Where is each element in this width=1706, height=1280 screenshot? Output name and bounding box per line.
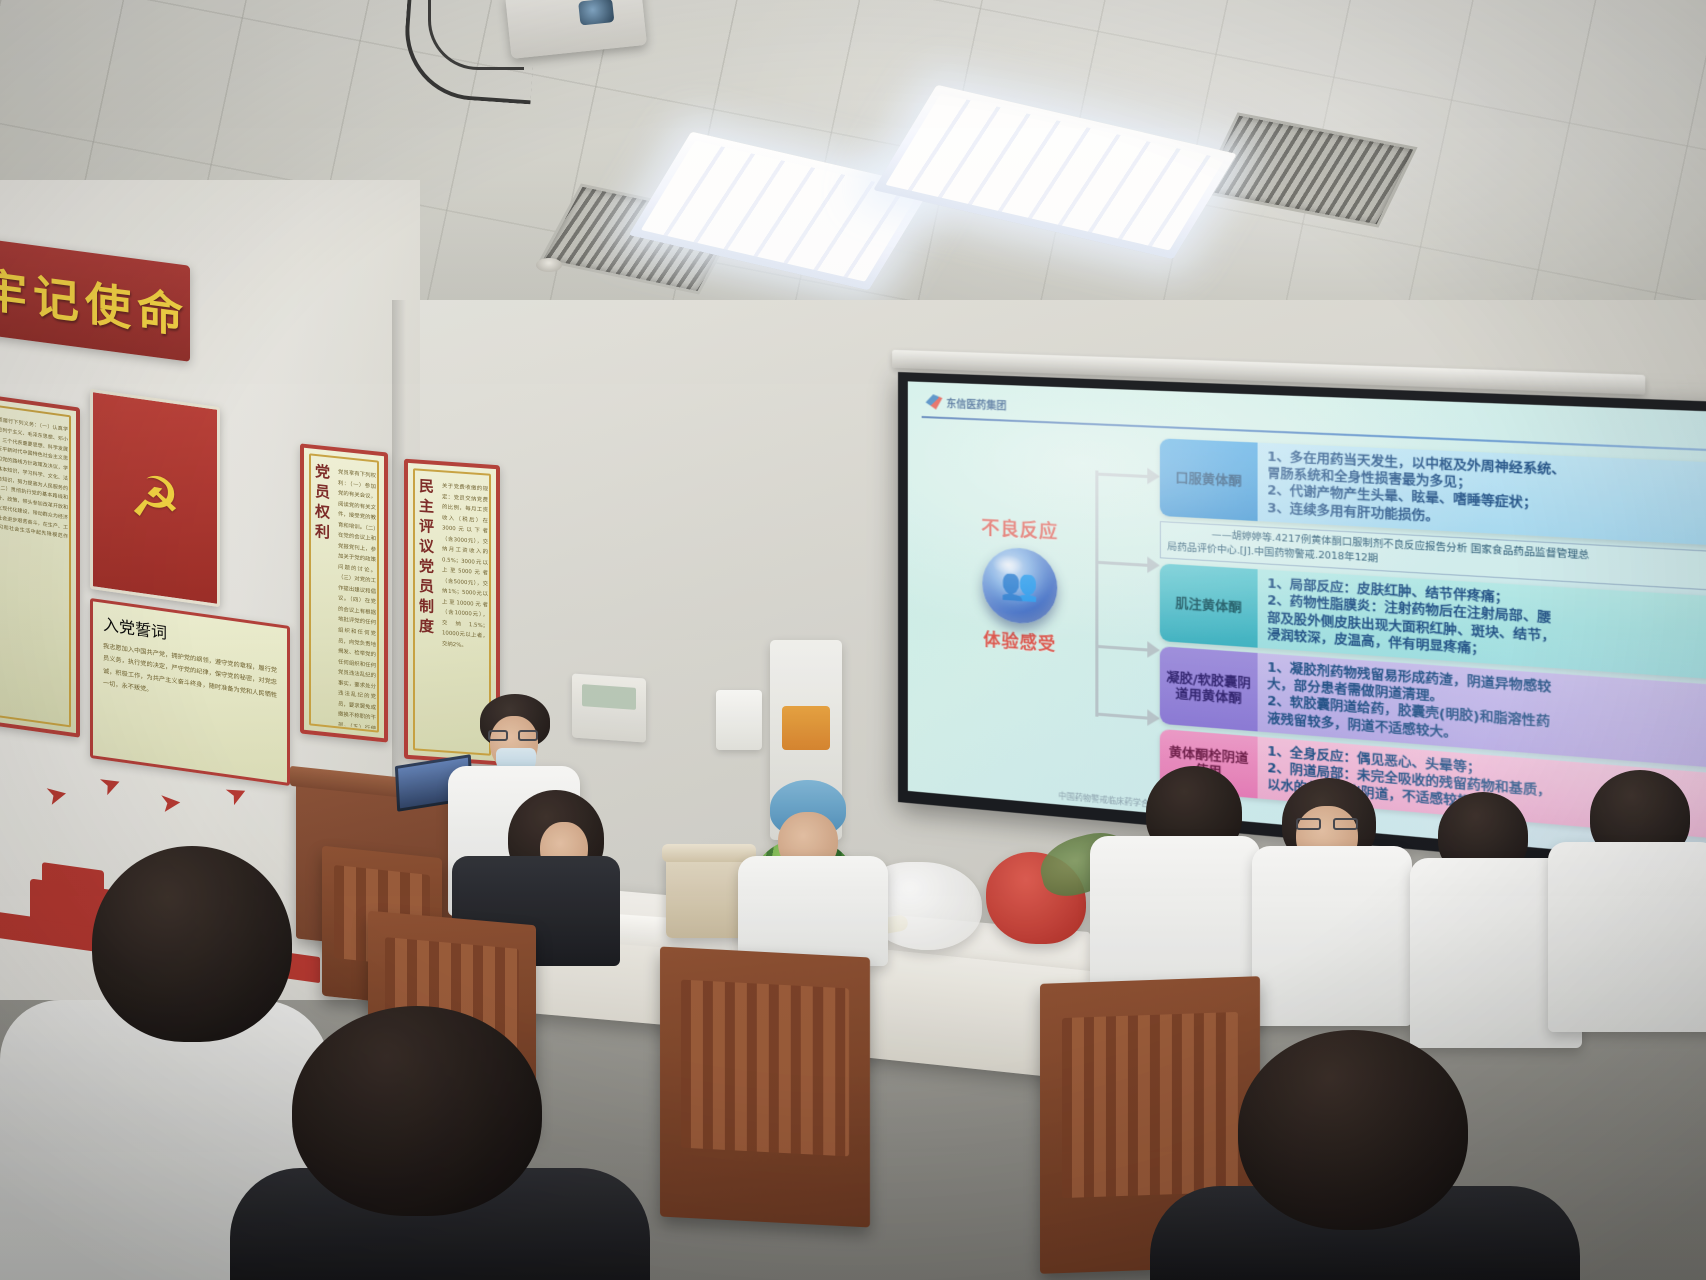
foreground-attendee-head [1238,1030,1468,1230]
wall-banner-text: 牢记使命 [0,253,189,346]
foreground-attendee-head [292,1006,542,1216]
slide-row-label: 肌注黄体酮 [1160,564,1258,648]
party-emblem-poster: ☭ [90,389,220,607]
slide-row-label: 凝胶/软胶囊阴道用黄体酮 [1160,646,1258,731]
slide-hub: 不良反应 👥 体验感受 [959,512,1081,657]
company-logo-icon [926,394,943,410]
photo-scene: 牢记使命 党员必须履行下列义务：（一）认真学习马克思列宁主义、毛泽东思想、邓小平… [0,0,1706,1280]
attendee-white-coat [738,856,888,966]
attendee-white-coat [1548,842,1706,1032]
wall-board-party-oath: 入党誓词 我志愿加入中国共产党，拥护党的纲领，遵守党的章程，履行党员义务，执行党… [90,598,290,786]
people-globe-icon: 👥 [982,546,1057,626]
projector-lens-icon [578,0,614,26]
foreground-attendee-head [92,846,292,1042]
slide-logo: 东信医药集团 [926,394,1007,412]
hammer-and-sickle-icon: ☭ [122,460,188,535]
wall-board-title: 民主评议党员制度 [416,477,437,638]
slide-row-label: 口服黄体酮 [1160,438,1258,521]
glasses-icon [488,730,540,741]
glasses-icon [1296,818,1360,830]
wall-board-body: 党员必须履行下列义务：（一）认真学习马克思列宁主义、毛泽东思想、邓小平理论、三个… [0,414,68,724]
slide-hub-subtitle: 体验感受 [959,623,1081,657]
slide-hub-title: 不良反应 [959,512,1081,545]
wooden-chair [660,946,870,1227]
attendee-white-coat [1252,846,1412,1026]
wall-board-party-rights: 党员权利 党员享有下列权利：（一）参加党的有关会议，阅读党的有关文件，接受党的教… [300,443,388,742]
wall-board-body: 党员享有下列权利：（一）参加党的有关会议，阅读党的有关文件，接受党的教育和培训。… [338,467,376,729]
slide-logo-text: 东信医药集团 [946,395,1006,413]
wall-board-party-duties: 党员必须履行下列义务：（一）认真学习马克思列宁主义、毛泽东思想、邓小平理论、三个… [0,392,80,737]
wall-board-title: 党员权利 [312,463,333,545]
wall-mounted-thermostat [572,673,646,742]
soap-dispenser [716,690,762,750]
smoke-detector-icon [536,258,562,272]
